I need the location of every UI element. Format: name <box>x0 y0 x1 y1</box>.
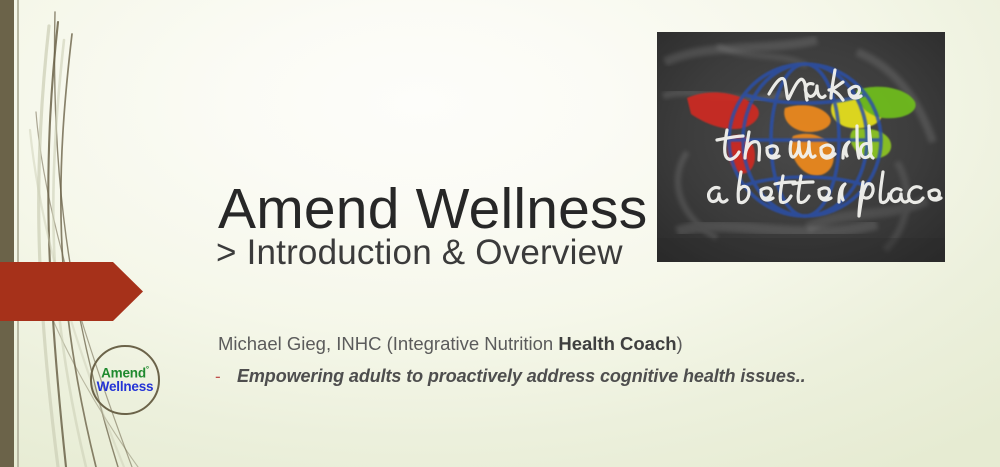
byline-bold-credential: Health Coach <box>558 333 676 354</box>
byline-suffix: ) <box>677 333 683 354</box>
band-hairline <box>17 0 19 467</box>
logo-degree-icon: ° <box>146 365 149 374</box>
left-accent-band <box>0 0 14 467</box>
logo-line-wellness: Wellness <box>97 380 154 394</box>
tagline-text: Empowering adults to proactively address… <box>237 366 806 387</box>
presentation-slide: Amend° Wellness Amend Wellness > Introdu… <box>0 0 1000 467</box>
byline-prefix: Michael Gieg, INHC (Integrative Nutritio… <box>218 333 558 354</box>
chalkboard-illustration <box>657 32 945 262</box>
logo-amend-text: Amend <box>101 365 146 380</box>
rust-arrow-shape <box>0 262 144 321</box>
bullet-dash-marker: - <box>215 367 237 387</box>
logo-line-amend: Amend° <box>101 366 149 381</box>
presenter-byline: Michael Gieg, INHC (Integrative Nutritio… <box>218 333 683 355</box>
tagline-bullet-row: - Empowering adults to proactively addre… <box>215 366 806 387</box>
chalkboard-image <box>657 32 945 262</box>
amend-wellness-logo: Amend° Wellness <box>90 345 160 415</box>
slide-subtitle: > Introduction & Overview <box>216 233 623 273</box>
